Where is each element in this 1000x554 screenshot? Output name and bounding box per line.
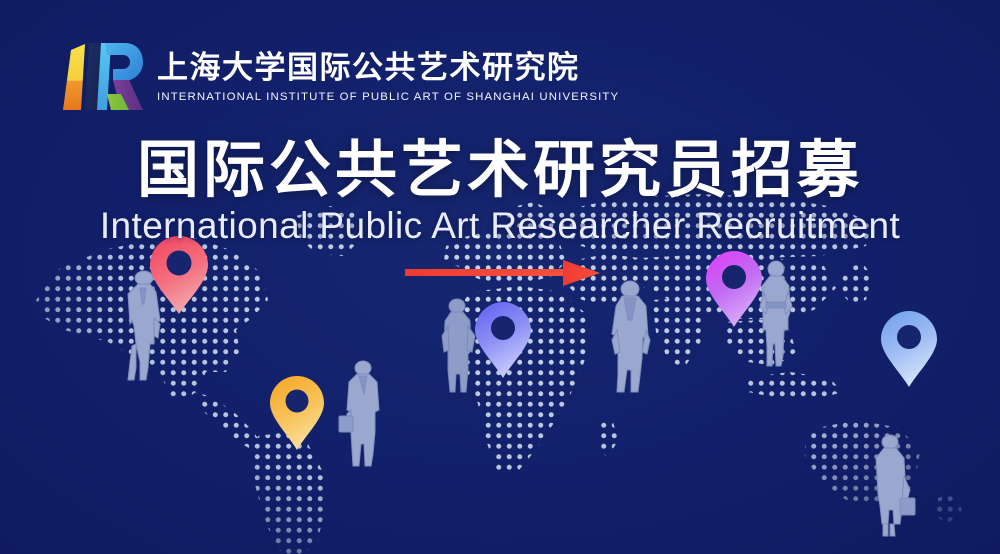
- logo-english-name: INTERNATIONAL INSTITUTE OF PUBLIC ART OF…: [157, 91, 619, 103]
- person-longcoat-bag: [862, 432, 924, 540]
- logo-wordmark: 上海大学国际公共艺术研究院 INTERNATIONAL INSTITUTE OF…: [157, 51, 619, 103]
- map-pin-blue[interactable]: [473, 300, 533, 380]
- logo-chinese-name: 上海大学国际公共艺术研究院: [157, 51, 619, 86]
- map-pin-red[interactable]: [148, 234, 210, 316]
- headline-english: International Public Art Researcher Recr…: [0, 207, 1000, 246]
- poster-canvas: 上海大学国际公共艺术研究院 INTERNATIONAL INSTITUTE OF…: [0, 0, 1000, 554]
- map-pin-orange[interactable]: [268, 374, 326, 452]
- headline-block: 国际公共艺术研究员招募 International Public Art Res…: [0, 138, 1000, 246]
- person-suit-briefcase: [333, 358, 395, 468]
- map-pin-lightblue[interactable]: [879, 309, 939, 389]
- person-walking-hoodie: [598, 278, 668, 396]
- map-pin-magenta[interactable]: [704, 249, 764, 329]
- red-direction-arrow: [405, 258, 600, 288]
- iipa-r-logo-icon: [55, 36, 143, 118]
- institute-logo: 上海大学国际公共艺术研究院 INTERNATIONAL INSTITUTE OF…: [55, 36, 619, 118]
- headline-chinese: 国际公共艺术研究员招募: [0, 138, 1000, 203]
